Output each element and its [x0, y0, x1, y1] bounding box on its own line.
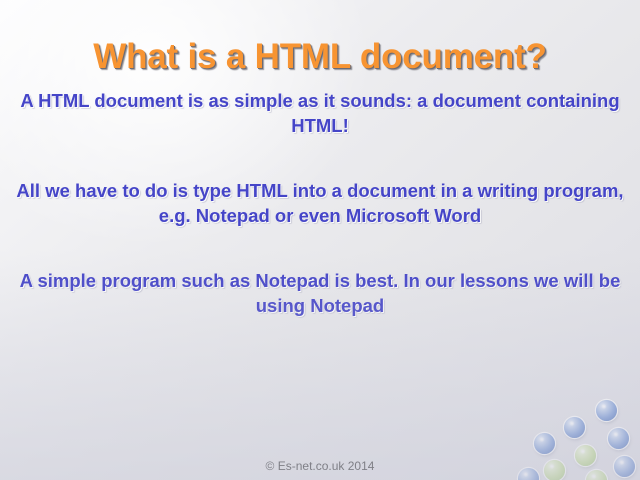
sphere-body: [596, 400, 617, 421]
slide-canvas: What is a HTML document? A HTML document…: [0, 0, 640, 480]
body-paragraph-2: All we have to do is type HTML into a do…: [0, 178, 640, 228]
page-title: What is a HTML document?: [0, 36, 640, 78]
sphere-body: [608, 428, 629, 449]
sphere-highlight: [601, 404, 607, 409]
sphere-highlight: [591, 474, 597, 479]
body-paragraph-3: A simple program such as Notepad is best…: [0, 268, 640, 318]
sphere-highlight: [569, 421, 575, 426]
body-paragraph-1: A HTML document is as simple as it sound…: [0, 88, 640, 138]
sphere-blue-3: [534, 433, 555, 454]
copyright-footer: © Es-net.co.uk 2014: [0, 458, 640, 474]
sphere-blue-4: [608, 428, 629, 449]
sphere-body: [564, 417, 585, 438]
sphere-blue-1: [596, 400, 617, 421]
sphere-highlight: [580, 449, 586, 454]
sphere-highlight: [539, 437, 545, 442]
sphere-highlight: [613, 432, 619, 437]
sphere-body: [534, 433, 555, 454]
sphere-blue-2: [564, 417, 585, 438]
